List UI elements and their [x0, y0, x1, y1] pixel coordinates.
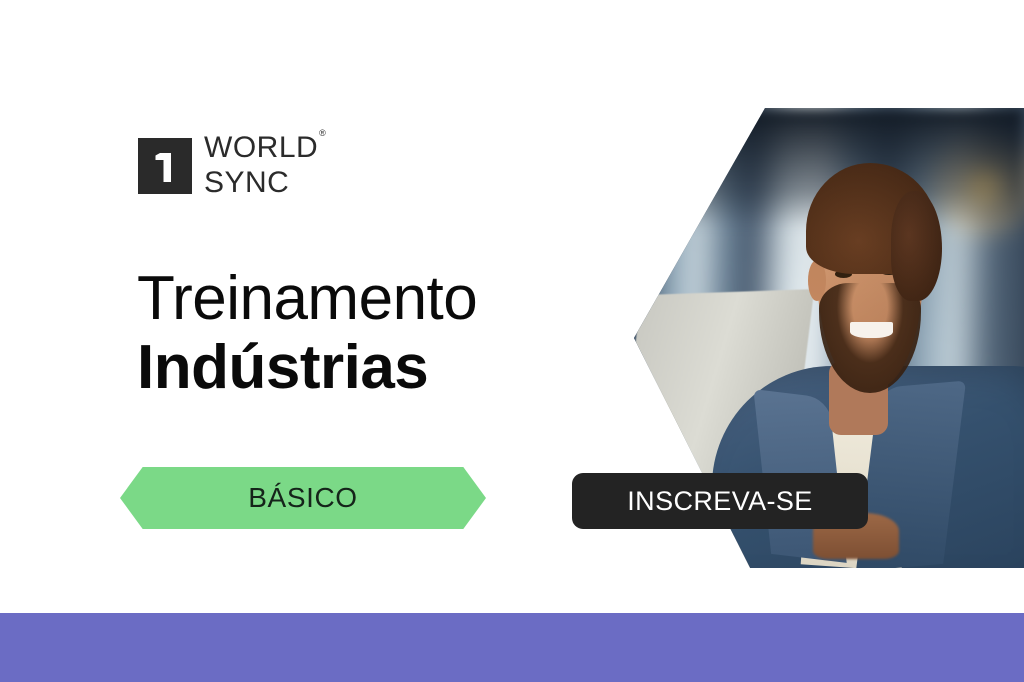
registered-trademark-icon: ® — [319, 128, 326, 138]
promo-banner: WORLD® SYNC Treinamento Indústrias BÁSIC… — [0, 0, 1024, 682]
one-numeral-mark-icon — [138, 138, 192, 194]
level-badge: BÁSICO — [120, 467, 486, 529]
headline-line-1: Treinamento — [137, 268, 477, 330]
level-badge-label: BÁSICO — [248, 482, 357, 514]
signup-button-label: INSCREVA-SE — [627, 486, 812, 517]
brand-logo: WORLD® SYNC — [138, 133, 325, 198]
bottom-accent-bar — [0, 613, 1024, 682]
wordmark-world-text: WORLD — [204, 131, 318, 164]
subject-smile — [850, 322, 893, 338]
wordmark-line-world: WORLD® — [204, 133, 325, 163]
signup-button[interactable]: INSCREVA-SE — [572, 473, 868, 529]
page-title: Treinamento Indústrias — [137, 268, 477, 399]
headline-line-2: Indústrias — [137, 337, 477, 399]
subject-hair-side — [891, 191, 942, 301]
brand-wordmark: WORLD® SYNC — [204, 133, 325, 198]
wordmark-line-sync: SYNC — [204, 168, 325, 198]
